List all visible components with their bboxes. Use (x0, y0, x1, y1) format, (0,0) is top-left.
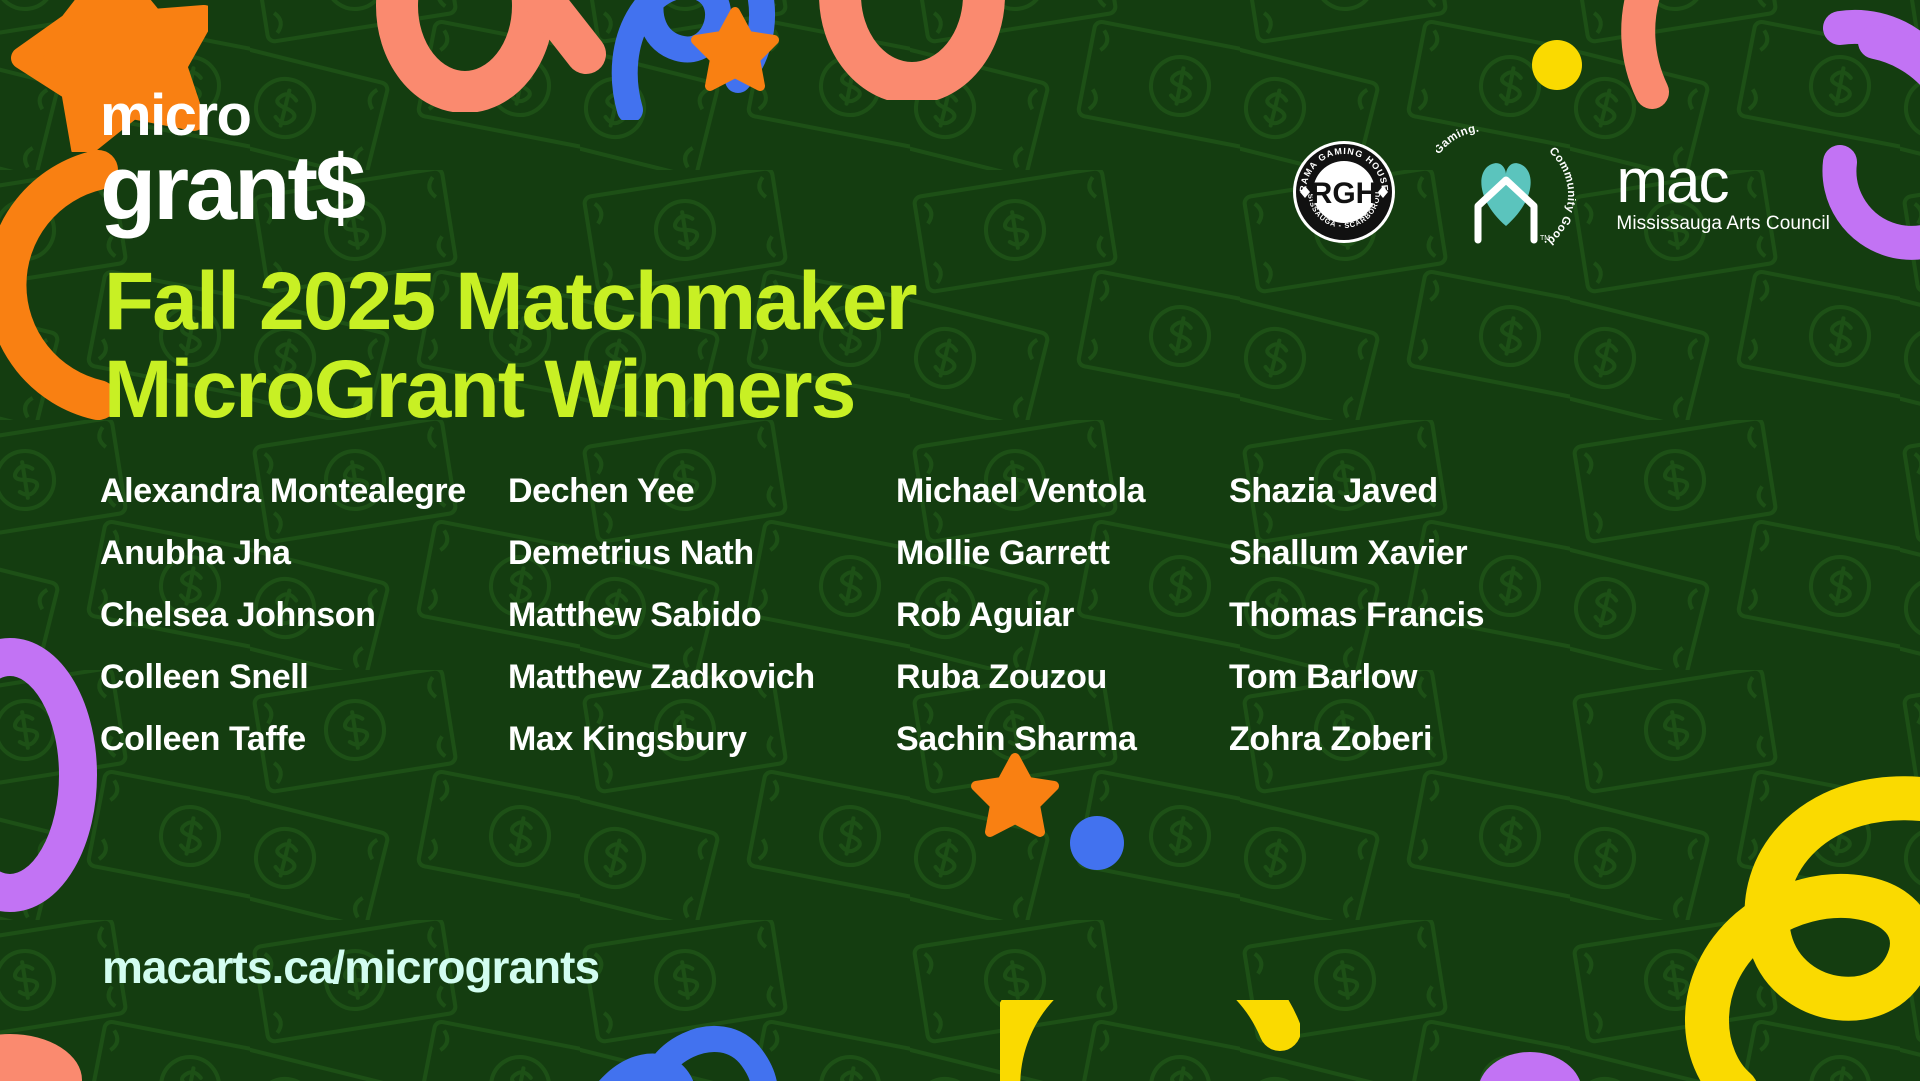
mac-subtitle: Mississauga Arts Council (1616, 213, 1830, 235)
rgh-center-text: RGH (1311, 177, 1378, 210)
winner-name: Sachin Sharma (896, 708, 1221, 770)
winner-name: Michael Ventola (896, 460, 1221, 522)
mac-wordmark: mac (1616, 154, 1830, 210)
winners-column-1: Alexandra Montealegre Anubha Jha Chelsea… (100, 460, 500, 770)
charitable-gaming-logo: Charitable Gaming. Community Good. TM (1436, 122, 1576, 267)
page-title: Fall 2025 Matchmaker MicroGrant Winners (104, 258, 916, 433)
winners-list: Alexandra Montealegre Anubha Jha Chelsea… (100, 460, 1840, 770)
winner-name: Matthew Sabido (508, 584, 888, 646)
winner-name: Tom Barlow (1229, 646, 1559, 708)
winner-name: Dechen Yee (508, 460, 888, 522)
winner-name: Matthew Zadkovich (508, 646, 888, 708)
logo-line-micro: micro (100, 88, 363, 143)
winner-name: Thomas Francis (1229, 584, 1559, 646)
winner-name: Max Kingsbury (508, 708, 888, 770)
winner-name: Ruba Zouzou (896, 646, 1221, 708)
winners-column-3: Michael Ventola Mollie Garrett Rob Aguia… (896, 460, 1221, 770)
partner-logos: RAMA GAMING HOUSE MISSISSAUGA - SCARBORO… (1292, 122, 1830, 267)
winner-name: Shallum Xavier (1229, 522, 1559, 584)
winners-column-4: Shazia Javed Shallum Xavier Thomas Franc… (1229, 460, 1559, 770)
headline-line-1: Fall 2025 Matchmaker (104, 258, 916, 346)
winner-name: Colleen Snell (100, 646, 500, 708)
poster-canvas: micro grant$ RAMA GAMING HOUSE (0, 0, 1920, 1081)
winner-name: Anubha Jha (100, 522, 500, 584)
microgrants-logo: micro grant$ (100, 88, 363, 232)
website-url[interactable]: macarts.ca/microgrants (102, 940, 599, 994)
cg-arc-left-text: Charitable Gaming. (1436, 123, 1480, 219)
winner-name: Chelsea Johnson (100, 584, 500, 646)
winner-name: Alexandra Montealegre (100, 460, 500, 522)
logo-line-grants: grant$ (100, 145, 363, 232)
winner-name: Shazia Javed (1229, 460, 1559, 522)
rgh-logo: RAMA GAMING HOUSE MISSISSAUGA - SCARBORO… (1292, 140, 1396, 249)
winners-column-2: Dechen Yee Demetrius Nath Matthew Sabido… (508, 460, 888, 770)
winner-name: Zohra Zoberi (1229, 708, 1559, 770)
mac-logo: mac Mississauga Arts Council (1616, 154, 1830, 235)
cg-trademark: TM (1540, 235, 1550, 242)
winner-name: Rob Aguiar (896, 584, 1221, 646)
headline-line-2: MicroGrant Winners (104, 346, 916, 434)
cg-arc-right-text: Community Good. (1542, 145, 1576, 249)
winner-name: Mollie Garrett (896, 522, 1221, 584)
poster-content: micro grant$ RAMA GAMING HOUSE (0, 0, 1920, 1081)
winner-name: Demetrius Nath (508, 522, 888, 584)
winner-name: Colleen Taffe (100, 708, 500, 770)
